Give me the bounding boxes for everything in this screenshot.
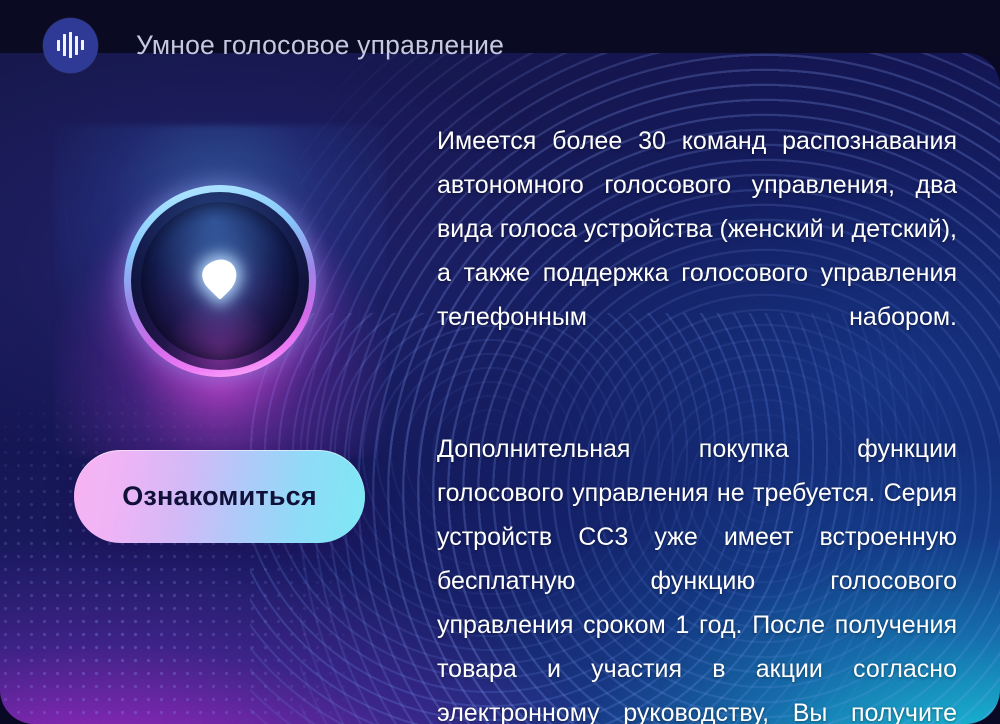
- voice-badge: [43, 18, 98, 73]
- description-text-block: Имеется более 30 команд распознавания ав…: [437, 119, 957, 724]
- page-header: Умное голосовое управление: [0, 0, 1000, 90]
- paragraph-voice-commands: Имеется более 30 команд распознавания ав…: [437, 119, 957, 383]
- learn-more-button[interactable]: Ознакомиться: [74, 450, 365, 543]
- orb-ring: [124, 185, 316, 377]
- orb-inner-sphere: [141, 202, 299, 360]
- voice-waveform-icon: [57, 32, 84, 58]
- teardrop-shape: [196, 252, 244, 300]
- promo-card: Ознакомиться Имеется более 30 команд рас…: [0, 53, 1000, 724]
- voice-control-promo-page: Ознакомиться Имеется более 30 команд рас…: [0, 0, 1000, 724]
- paragraph-free-license: Дополнительная покупка функции голосовог…: [437, 427, 957, 724]
- page-title: Умное голосовое управление: [136, 30, 504, 61]
- orb-outer-glow: [54, 125, 386, 457]
- voice-orb-illustration: [124, 185, 316, 377]
- teardrop-pin-icon: [203, 259, 237, 307]
